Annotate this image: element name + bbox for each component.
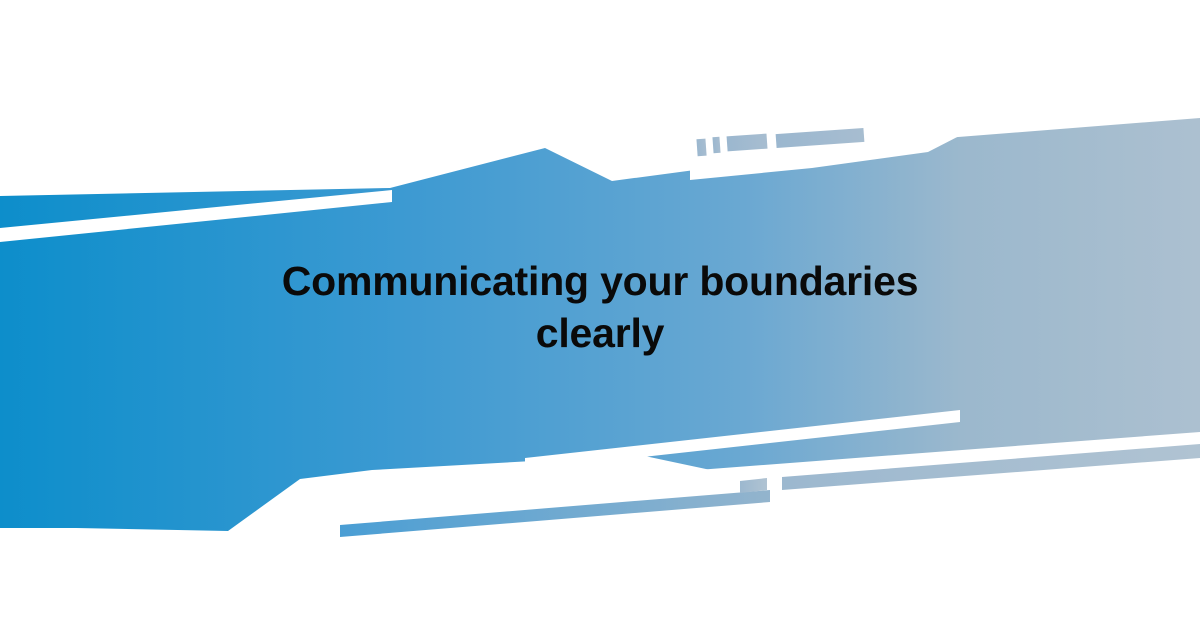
dash-square-tiny	[712, 137, 720, 153]
dash-bar-medium	[727, 134, 768, 152]
decorative-artwork	[0, 0, 1200, 630]
banner-card: Communicating your boundaries clearly	[0, 0, 1200, 630]
dash-square-small	[696, 139, 706, 157]
